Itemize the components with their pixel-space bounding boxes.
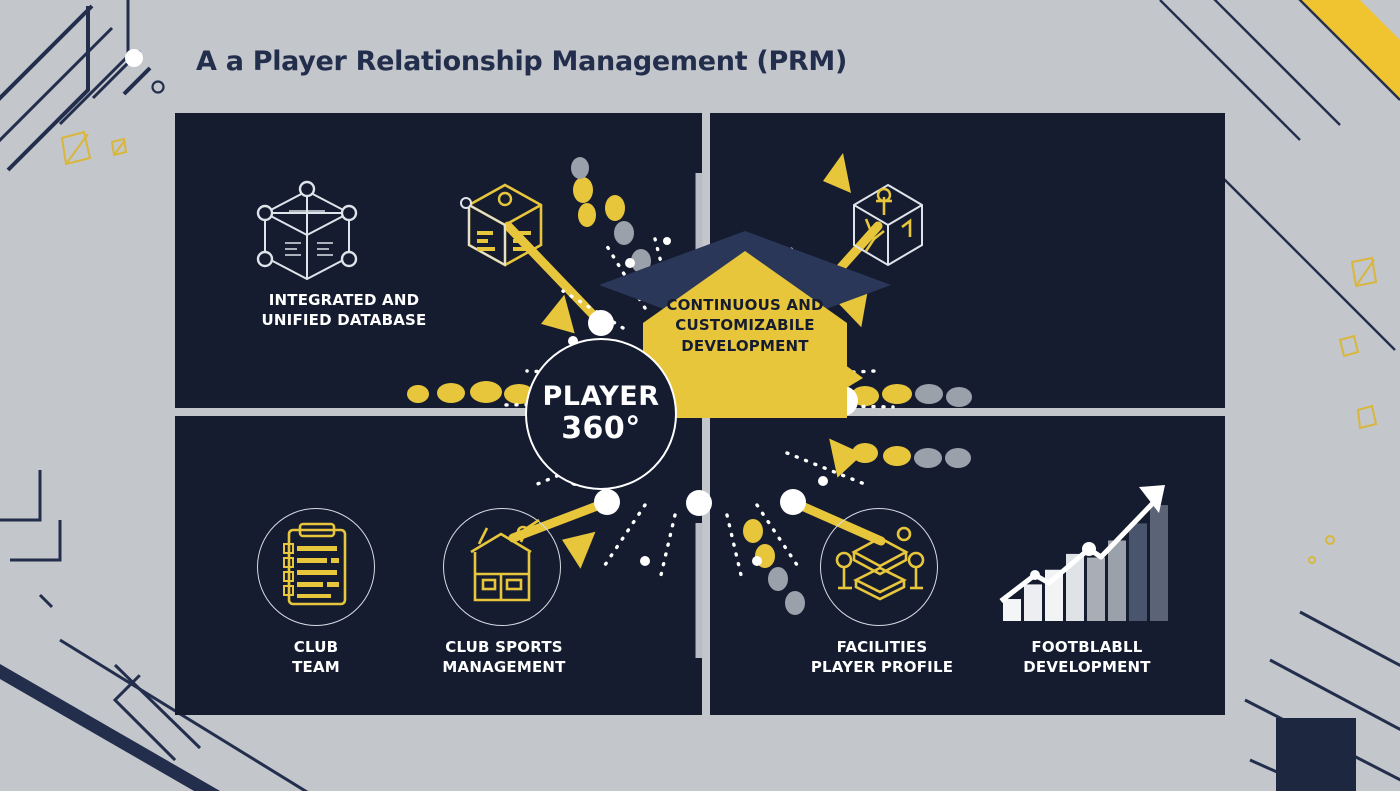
wireframe-cube-network-icon[interactable]: [245, 173, 370, 296]
label-continuous-customizable-development: CONTINUOUS AND CUSTOMIZABILE DEVELOPMENT: [615, 295, 875, 356]
hub-subtitle: 360°: [561, 412, 641, 445]
gold-analytics-cube-icon[interactable]: [840, 175, 936, 276]
gold-data-cube-icon[interactable]: [455, 175, 555, 276]
label-facilities-player-profile: FACILITIES PLAYER PROFILE: [784, 637, 980, 678]
stadium-building-icon[interactable]: [443, 508, 561, 626]
chart-bar: [1003, 599, 1021, 621]
decor-block-bottom-right: [1276, 718, 1356, 791]
chart-bar: [1129, 523, 1147, 621]
clipboard-list-icon[interactable]: [257, 508, 375, 626]
chart-bar: [1108, 540, 1126, 621]
label-club-sports-management: CLUB SPORTS MANAGEMENT: [409, 637, 599, 678]
infographic-panel: .gold-line { stroke:#e8c63c; stroke-widt…: [175, 113, 1225, 715]
hub-circle-icon[interactable]: PLAYER 360°: [525, 338, 677, 490]
page-title: A a Player Relationship Management (PRM): [196, 46, 847, 77]
label-club-team: CLUB TEAM: [236, 637, 396, 678]
label-integrated-unified-database: INTEGRATED AND UNIFIED DATABASE: [219, 290, 469, 331]
chart-bar: [1024, 584, 1042, 621]
growth-chart-svg: [993, 461, 1178, 626]
growth-bar-chart-icon[interactable]: [993, 461, 1178, 631]
layered-platform-icon[interactable]: [820, 508, 938, 626]
hub-title: PLAYER: [542, 383, 659, 411]
chart-bars: [1003, 505, 1168, 621]
chart-bar: [1150, 505, 1168, 621]
decor-dot-white: [125, 49, 143, 67]
label-football-development: FOOTBLABLL DEVELOPMENT: [987, 637, 1187, 678]
chart-bar: [1087, 558, 1105, 621]
